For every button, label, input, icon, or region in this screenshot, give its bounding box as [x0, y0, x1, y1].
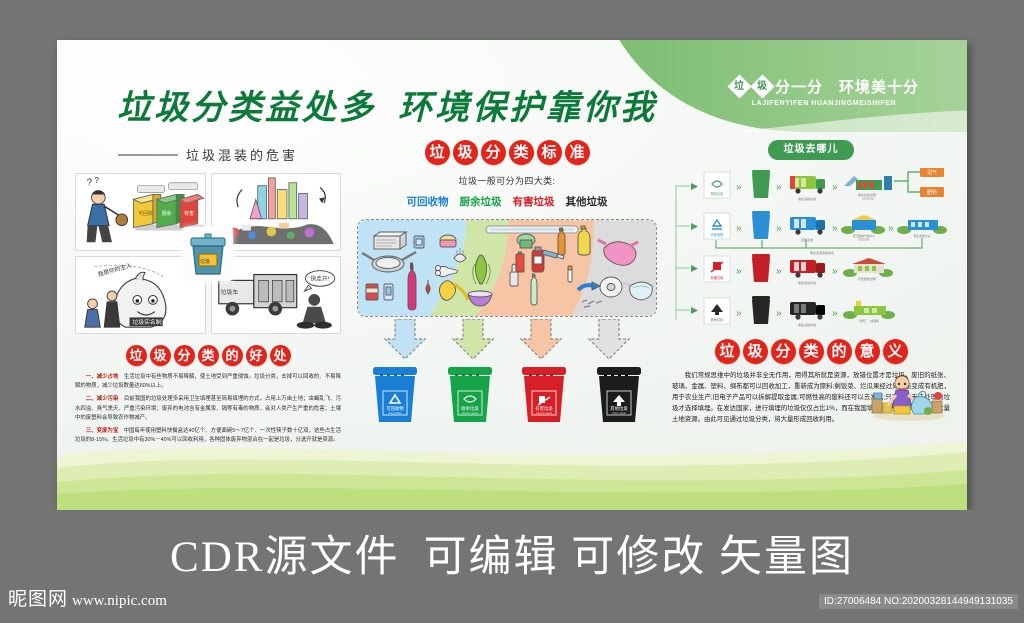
sorting-arrows [357, 319, 657, 361]
title-char: 垃 [126, 345, 147, 366]
slogan-diamond-2: 圾 [750, 74, 774, 98]
where-does-garbage-go-badge: 垃圾去哪儿 [768, 140, 854, 160]
svg-text:?: ? [87, 178, 93, 189]
title-char: 分 [174, 345, 195, 366]
title-char: 类 [799, 339, 824, 364]
benefit-paragraph: 二、减少污染 目前我国的垃圾处理多采用卫生填埋甚至简易填埋的方式，占用上万亩土地… [75, 395, 341, 423]
title-char: 垃 [715, 339, 740, 364]
svg-text:厨余垃圾: 厨余垃圾 [461, 405, 479, 412]
heading-rule-left [118, 154, 178, 156]
slogan-diamond-1: 垃 [727, 74, 751, 98]
title-char: 圾 [453, 140, 478, 165]
svg-text:厨余: 厨余 [162, 210, 172, 217]
left-heading: 垃圾混装的危害 [75, 145, 341, 164]
bin-hazard: 有害垃圾 Harmful waste [518, 363, 570, 425]
right-section-title: 垃 圾 分 类 的 意 义 [672, 339, 950, 364]
svg-text:(待建项目): (待建项目) [858, 238, 870, 242]
svg-text:有害垃圾: 有害垃圾 [536, 405, 554, 412]
title-char: 的 [222, 345, 243, 366]
title-char: 的 [827, 339, 852, 364]
title-char: 意 [855, 339, 880, 364]
svg-text:»: » [776, 223, 782, 234]
svg-text:再生资源企业: 再生资源企业 [914, 234, 931, 238]
svg-text:可回收物: 可回收物 [386, 405, 404, 412]
category-recyclable: 可回收物 [407, 194, 449, 209]
category-row: 可回收物 厨余垃圾 有害垃圾 其他垃圾 [357, 194, 657, 209]
headline-part1: 垃圾分类益处多 [117, 89, 376, 127]
svg-text:»: » [776, 266, 782, 277]
svg-text:收集运输系统: 收集运输系统 [798, 196, 816, 201]
svg-text:可回收: 可回收 [138, 210, 153, 217]
middle-column: 垃 圾 分 类 标 准 垃圾一般可分为四大类: 可回收物 厨余垃圾 有害垃圾 其… [357, 140, 657, 425]
svg-text:垃圾车: 垃圾车 [220, 288, 238, 296]
svg-text:»: » [776, 182, 782, 193]
left-heading-text: 垃圾混装的危害 [186, 145, 298, 164]
waste-flow-diagram: 厨余垃圾 » » [672, 168, 950, 333]
bins-row: 可回收物 Recyclable 厨余垃圾 [357, 363, 657, 425]
title-char: 好 [246, 345, 267, 366]
center-bin-icon: 垃圾 [183, 227, 233, 281]
headline-part2: 环境保护靠你我 [398, 89, 657, 127]
svg-text:»: » [888, 223, 894, 234]
svg-text:再生资源收集体系: 再生资源收集体系 [810, 250, 834, 255]
left-body-text: 一、减少占地 生活垃圾中有些物质不易降解，使土地受到严重侵蚀。垃圾分类，去掉可以… [75, 373, 341, 445]
svg-text:»: » [776, 308, 782, 319]
svg-text:»: » [736, 266, 742, 277]
svg-text:焚烧厂、填埋场: 焚烧厂、填埋场 [859, 319, 879, 323]
svg-text:收集运输系统: 收集运输系统 [798, 280, 816, 285]
svg-text:危险废物处理厂: 危险废物处理厂 [858, 277, 878, 281]
svg-text:有害: 有害 [184, 210, 194, 217]
title-char: 准 [565, 140, 590, 165]
svg-text:(待建项目): (待建项目) [862, 197, 874, 201]
screenshot-root: 垃圾分类益处多环境保护靠你我 垃 圾 分一分 环境美十分 LAJIFENYIFE… [0, 0, 1024, 623]
svg-text:»: » [832, 182, 838, 193]
svg-text:快走开!: 快走开! [310, 274, 329, 282]
svg-text:?: ? [94, 176, 99, 185]
svg-text:可回收物: 可回收物 [711, 232, 725, 237]
title-char: 处 [270, 345, 291, 366]
slogan-pinyin: LAJIFENYIFEN HUANJINGMEISHIFEN [699, 100, 949, 107]
title-char: 圾 [150, 345, 171, 366]
title-char: 类 [509, 140, 534, 165]
category-other: 其他垃圾 [566, 194, 608, 209]
title-char: 圾 [743, 339, 768, 364]
svg-text:Kitchen waste: Kitchen waste [462, 411, 479, 415]
footer-watermark-area: CDR源文件可编辑 可修改 矢量图 昵图网www.nipic.com ID:27… [0, 510, 1024, 623]
svg-text:»: » [832, 223, 838, 234]
person-sorting-garbage-illustration [870, 369, 948, 421]
svg-text:Recyclable: Recyclable [389, 411, 402, 415]
category-hazard: 有害垃圾 [513, 194, 555, 209]
brand-url: www.nipic.com [72, 593, 167, 609]
cdr-part2: 可编辑 可修改 矢量图 [423, 534, 854, 581]
svg-text:垃圾: 垃圾 [200, 258, 210, 265]
benefit-label: 三、变废为宝 [86, 428, 118, 434]
cdr-part1: CDR源文件 [170, 534, 399, 581]
cartoon-grid: 可回收 厨余 有害 [75, 173, 341, 334]
middle-subtitle: 垃圾一般可分为四大类: [357, 174, 657, 187]
svg-text:»: » [832, 308, 838, 319]
brand-name-cn: 昵图网 [8, 589, 68, 610]
svg-text:回收系统: 回收系统 [801, 237, 813, 242]
left-section-title: 垃 圾 分 类 的 好 处 [75, 345, 341, 366]
poster-board: 垃圾分类益处多环境保护靠你我 垃 圾 分一分 环境美十分 LAJIFENYIFE… [57, 40, 967, 510]
benefit-paragraph: 三、变废为宝 中国每年使用塑料快餐盒达40亿个、方便面碗5～7亿个、一次性筷子数… [75, 427, 341, 445]
svg-text:Other waste: Other waste [612, 411, 627, 415]
slogan-block: 垃 圾 分一分 环境美十分 LAJIFENYIFEN HUANJINGMEISH… [699, 76, 949, 107]
waste-items-illustration [357, 219, 657, 317]
site-brand: 昵图网www.nipic.com [8, 584, 167, 611]
category-kitchen: 厨余垃圾 [460, 194, 502, 209]
bin-other: 其他垃圾 Other waste [593, 363, 645, 425]
benefit-label: 一、减少占地 [86, 374, 119, 380]
svg-text:其他垃圾: 其他垃圾 [610, 405, 628, 412]
svg-text:»: » [832, 266, 838, 277]
benefit-label: 二、减少污染 [86, 396, 119, 402]
bin-recyclable: 可回收物 Recyclable [369, 363, 421, 425]
svg-text:有害垃圾: 有害垃圾 [711, 275, 725, 280]
right-column: 垃圾去哪儿 [672, 140, 950, 425]
svg-text:垃圾实名制: 垃圾实名制 [132, 318, 161, 326]
svg-text:Harmful waste: Harmful waste [536, 411, 553, 415]
poster-headline: 垃圾分类益处多环境保护靠你我 [117, 80, 777, 129]
svg-text:收集运输系统: 收集运输系统 [798, 322, 816, 327]
title-char: 类 [198, 345, 219, 366]
svg-text:»: » [736, 308, 742, 319]
benefit-paragraph: 一、减少占地 生活垃圾中有些物质不易降解，使土地受到严重侵蚀。垃圾分类，去掉可以… [75, 373, 341, 391]
svg-text:»: » [736, 182, 742, 193]
title-char: 分 [771, 339, 796, 364]
left-column: 垃圾混装的危害 可回收 [75, 145, 341, 449]
bin-kitchen: 厨余垃圾 Kitchen waste [444, 363, 496, 425]
cdr-watermark-text: CDR源文件可编辑 可修改 矢量图 [0, 522, 1024, 584]
title-char: 标 [537, 140, 562, 165]
svg-text:其他垃圾: 其他垃圾 [711, 317, 725, 322]
middle-section-title: 垃 圾 分 类 标 准 [357, 140, 657, 165]
image-id-badge: ID:27006484 NO:20200328144949131035 [819, 594, 1018, 609]
svg-text:厨余垃圾: 厨余垃圾 [711, 191, 725, 196]
svg-text:沼气: 沼气 [927, 169, 937, 176]
title-char: 义 [883, 339, 908, 364]
svg-text:肥料: 肥料 [927, 189, 937, 196]
svg-text:厨余垃圾处理厂: 厨余垃圾处理厂 [858, 193, 878, 197]
svg-text:可回收物分拣中心: 可回收物分拣中心 [853, 234, 876, 238]
title-char: 垃 [425, 140, 450, 165]
title-char: 分 [481, 140, 506, 165]
svg-text:»: » [736, 223, 742, 234]
slogan-text: 分一分 环境美十分 [775, 76, 919, 97]
